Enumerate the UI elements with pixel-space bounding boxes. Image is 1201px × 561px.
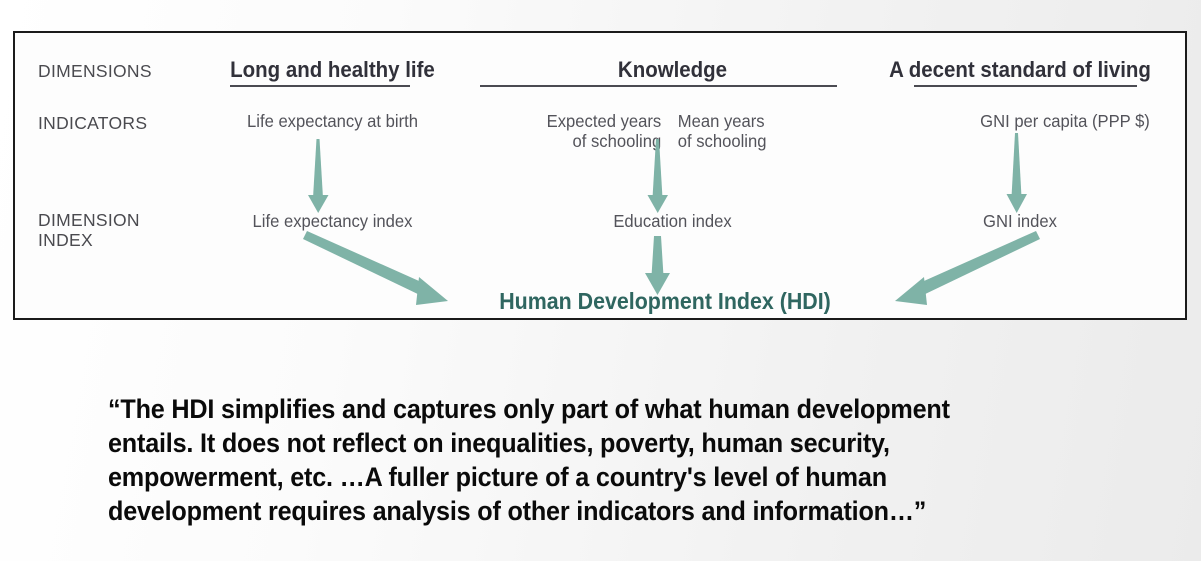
dimension-index-life-expectancy-index: Life expectancy index: [211, 211, 453, 232]
dimension-index-gni-index: GNI index: [901, 211, 1139, 232]
arrow-education-index-to-hdi: [645, 236, 670, 295]
arrow-gni-down: [1007, 133, 1028, 213]
row-label-dimension-index: DIMENSION INDEX: [38, 210, 140, 250]
indicator-life-expectancy-at-birth: Life expectancy at birth: [211, 111, 453, 131]
indicator-expected-years-of-schooling: Expected years of schooling: [519, 111, 662, 151]
hdi-diagram-panel: DIMENSIONS INDICATORS DIMENSION INDEX Lo…: [13, 31, 1187, 320]
dimension-title-long-and-healthy-life: Long and healthy life: [214, 57, 451, 83]
dimension-title-knowledge: Knowledge: [554, 57, 791, 83]
dimension-title-decent-standard-of-living: A decent standard of living: [881, 57, 1160, 83]
quote-line: development requires analysis of other i…: [108, 494, 1077, 528]
hdi-result-title: Human Development Index (HDI): [470, 288, 861, 315]
quote-line: entails. It does not reflect on inequali…: [108, 426, 1077, 460]
quote-line: empowerment, etc. …A fuller picture of a…: [108, 460, 1077, 494]
dimension-rule-1: [230, 85, 410, 87]
dimension-rule-2: [480, 85, 837, 87]
arrow-gni-index-to-hdi: [895, 231, 1040, 305]
arrow-life-expectancy-index-to-hdi: [303, 231, 448, 305]
dimension-index-education-index: Education index: [551, 211, 793, 232]
indicator-mean-years-of-schooling: Mean years of schooling: [678, 111, 821, 151]
indicator-gni-per-capita: GNI per capita (PPP $): [904, 111, 1201, 131]
quote-line: “The HDI simplifies and captures only pa…: [108, 392, 1077, 426]
row-label-dimensions: DIMENSIONS: [38, 61, 152, 81]
row-label-indicators: INDICATORS: [38, 113, 147, 133]
arrow-life-expectancy-down: [308, 139, 329, 213]
hdi-quote: “The HDI simplifies and captures only pa…: [108, 392, 1077, 528]
dimension-rule-3: [914, 85, 1137, 87]
